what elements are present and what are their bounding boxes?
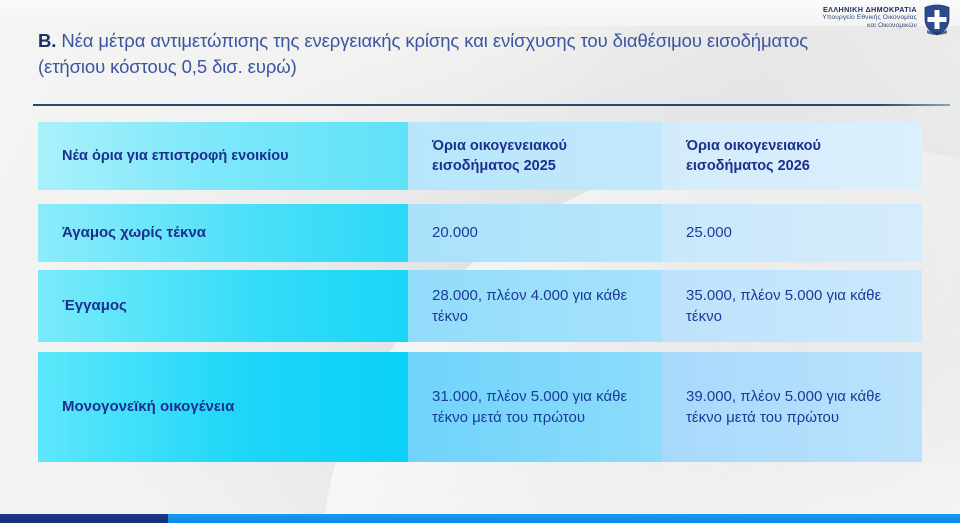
slide-title-prefix: Β. <box>38 30 56 51</box>
table-row-label: Έγγαμος <box>62 296 127 316</box>
table-cell-2026: 25.000 <box>662 204 922 262</box>
table-cell-2025: 20.000 <box>408 204 662 262</box>
table-row-gap <box>38 262 922 270</box>
table-header-cell-2025: Όρια οικογενειακού εισοδήματος 2025 <box>408 122 662 190</box>
table-row-label: Μονογονεϊκή οικογένεια <box>62 397 234 417</box>
table-cell-2025: 31.000, πλέον 5.000 για κάθε τέκνο μετά … <box>408 352 662 462</box>
ministry-logo-text: ΕΛΛΗΝΙΚΗ ΔΗΜΟΚΡΑΤΙΑ Υπουργείο Εθνικής Οι… <box>822 4 917 30</box>
table-row-value-2026: 25.000 <box>686 222 732 243</box>
table-cell-category: Έγγαμος <box>38 270 408 342</box>
ministry-logo: ΕΛΛΗΝΙΚΗ ΔΗΜΟΚΡΑΤΙΑ Υπουργείο Εθνικής Οι… <box>822 4 952 36</box>
slide-title: Β. Νέα μέτρα αντιμετώπισης της ενεργειακ… <box>38 28 828 81</box>
table-header-row: Νέα όρια για επιστροφή ενοικίου Όρια οικ… <box>38 122 922 190</box>
table-row: Μονογονεϊκή οικογένεια 31.000, πλέον 5.0… <box>38 352 922 462</box>
income-limits-table: Νέα όρια για επιστροφή ενοικίου Όρια οικ… <box>38 122 922 462</box>
table-header-label-2025: Όρια οικογενειακού εισοδήματος 2025 <box>432 136 652 176</box>
slide-title-body: Νέα μέτρα αντιμετώπισης της ενεργειακής … <box>38 30 808 77</box>
title-divider-rule <box>33 104 950 106</box>
table-row-value-2026: 35.000, πλέον 5.000 για κάθε τέκνο <box>686 285 912 328</box>
table-row-value-2025: 20.000 <box>432 222 478 243</box>
slide-canvas: ΕΛΛΗΝΙΚΗ ΔΗΜΟΚΡΑΤΙΑ Υπουργείο Εθνικής Οι… <box>0 0 960 523</box>
table-header-label-category: Νέα όρια για επιστροφή ενοικίου <box>62 146 289 166</box>
top-background-wash <box>0 0 960 26</box>
table-header-cell-category: Νέα όρια για επιστροφή ενοικίου <box>38 122 408 190</box>
bottom-bar-navy-segment <box>0 514 168 523</box>
table-row-value-2025: 31.000, πλέον 5.000 για κάθε τέκνο μετά … <box>432 386 652 429</box>
table-row-gap <box>38 342 922 352</box>
table-row: Άγαμος χωρίς τέκνα 20.000 25.000 <box>38 204 922 262</box>
table-cell-category: Άγαμος χωρίς τέκνα <box>38 204 408 262</box>
table-header-cell-2026: Όρια οικογενειακού εισοδήματος 2026 <box>662 122 922 190</box>
bottom-accent-bar <box>0 514 960 523</box>
table-row-value-2026: 39.000, πλέον 5.000 για κάθε τέκνο μετά … <box>686 386 912 429</box>
table-cell-2026: 35.000, πλέον 5.000 για κάθε τέκνο <box>662 270 922 342</box>
table-header-label-2026: Όρια οικογενειακού εισοδήματος 2026 <box>686 136 912 176</box>
table-cell-2025: 28.000, πλέον 4.000 για κάθε τέκνο <box>408 270 662 342</box>
table-cell-category: Μονογονεϊκή οικογένεια <box>38 352 408 462</box>
table-row: Έγγαμος 28.000, πλέον 4.000 για κάθε τέκ… <box>38 270 922 342</box>
bottom-bar-blue-segment <box>168 514 960 523</box>
slide-title-text: Β. Νέα μέτρα αντιμετώπισης της ενεργειακ… <box>38 28 828 81</box>
table-row-gap <box>38 190 922 204</box>
table-row-value-2025: 28.000, πλέον 4.000 για κάθε τέκνο <box>432 285 652 328</box>
table-cell-2026: 39.000, πλέον 5.000 για κάθε τέκνο μετά … <box>662 352 922 462</box>
greek-coat-of-arms-icon <box>922 4 952 36</box>
ministry-logo-line3: και Οικονομικών <box>822 22 917 30</box>
table-row-label: Άγαμος χωρίς τέκνα <box>62 223 206 243</box>
